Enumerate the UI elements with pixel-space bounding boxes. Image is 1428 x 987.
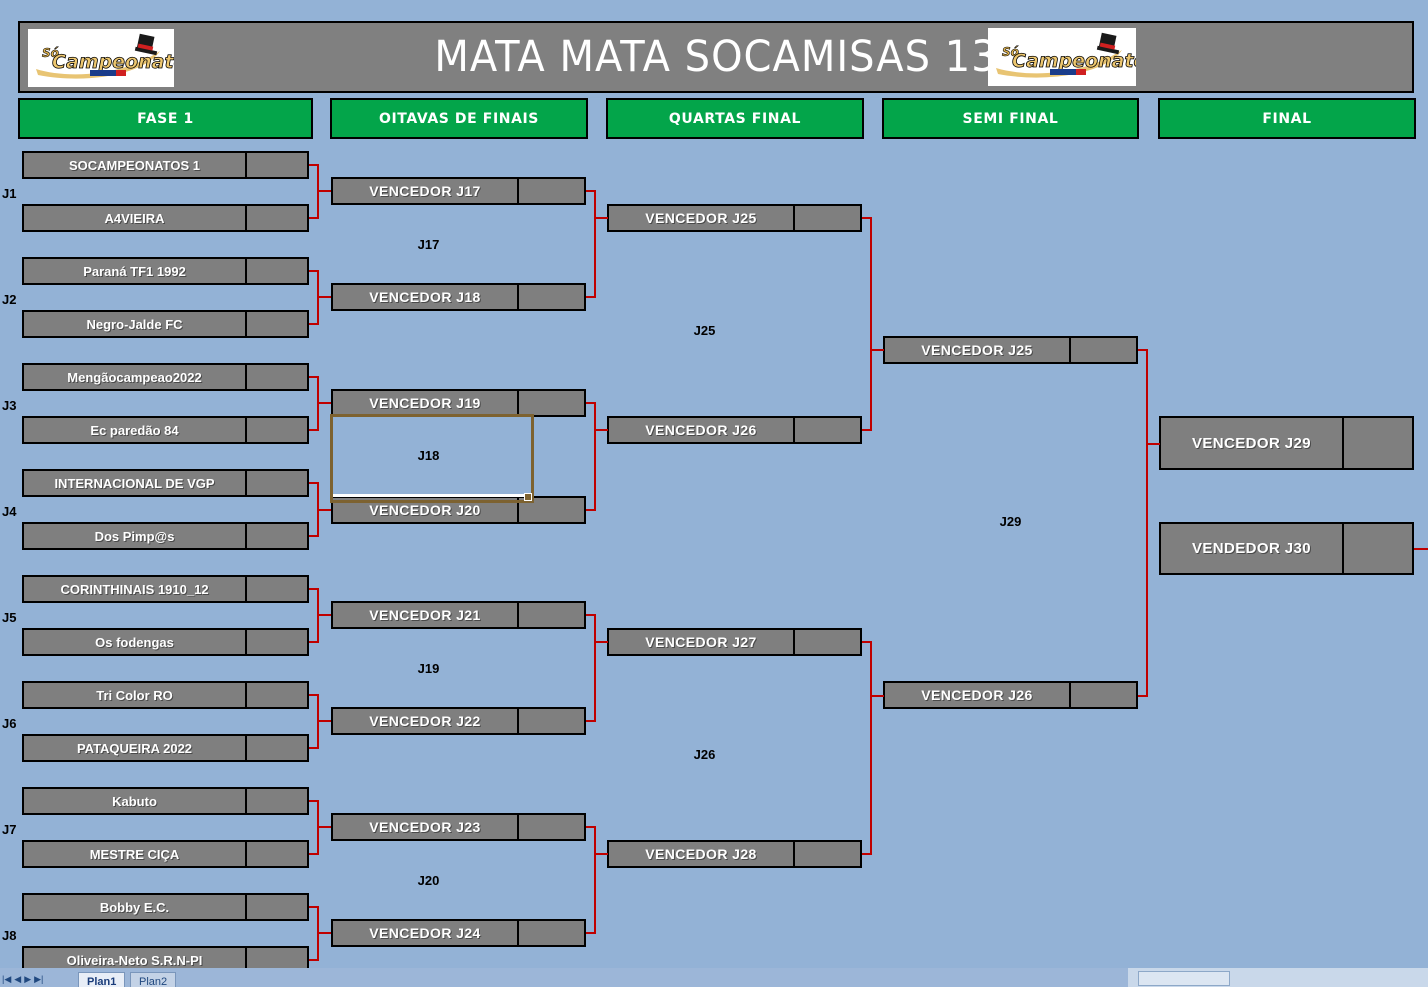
match-slot[interactable]: MESTRE CIÇA xyxy=(22,840,309,868)
horizontal-scrollbar[interactable] xyxy=(1128,968,1428,987)
score-cell[interactable] xyxy=(517,603,584,627)
match-slot[interactable]: Os fodengas xyxy=(22,628,309,656)
connector xyxy=(317,614,331,616)
match-code: J17 xyxy=(331,232,526,256)
team-name: VENCEDOR J18 xyxy=(333,285,517,309)
round-header-label: FASE 1 xyxy=(137,111,194,127)
team-name: Tri Color RO xyxy=(24,683,245,707)
team-name: VENDEDOR J30 xyxy=(1161,524,1342,573)
team-name: VENCEDOR J23 xyxy=(333,815,517,839)
sheet-nav-buttons[interactable]: |◀ ◀ ▶ ▶| xyxy=(2,972,68,987)
score-cell[interactable] xyxy=(517,391,584,415)
team-name: Bobby E.C. xyxy=(24,895,245,919)
score-cell[interactable] xyxy=(245,312,307,336)
score-cell[interactable] xyxy=(245,206,307,230)
connector xyxy=(594,826,596,934)
team-name: VENCEDOR J29 xyxy=(1161,418,1342,468)
score-cell[interactable] xyxy=(793,842,860,866)
score-cell[interactable] xyxy=(517,709,584,733)
score-cell[interactable] xyxy=(245,683,307,707)
score-cell[interactable] xyxy=(245,524,307,548)
match-code: J20 xyxy=(331,868,526,892)
score-cell[interactable] xyxy=(245,895,307,919)
connector xyxy=(594,853,608,855)
connector xyxy=(870,695,884,697)
team-name: VENCEDOR J21 xyxy=(333,603,517,627)
team-name: VENCEDOR J27 xyxy=(609,630,793,654)
team-name: Paraná TF1 1992 xyxy=(24,259,245,283)
connector xyxy=(594,190,596,298)
page-title: MATA MATA SOCAMISAS 13 xyxy=(434,33,997,82)
match-code: J5 xyxy=(2,606,22,628)
sheet-tab-plan1[interactable]: Plan1 xyxy=(78,972,125,987)
svg-text:Campeonatos: Campeonatos xyxy=(1012,50,1136,72)
match-slot[interactable]: Mengãocampeao2022 xyxy=(22,363,309,391)
match-slot[interactable]: Dos Pimp@s xyxy=(22,522,309,550)
connector xyxy=(594,429,608,431)
connector xyxy=(870,641,872,855)
team-name: Ec paredão 84 xyxy=(24,418,245,442)
score-cell[interactable] xyxy=(1342,418,1412,468)
match-slot[interactable]: VENCEDOR J26 xyxy=(883,681,1138,709)
cell-selection-border[interactable] xyxy=(330,414,534,503)
round-header-label: QUARTAS FINAL xyxy=(669,111,801,127)
match-slot[interactable]: VENCEDOR J24 xyxy=(331,919,586,947)
team-name: MESTRE CIÇA xyxy=(24,842,245,866)
score-cell[interactable] xyxy=(1069,683,1136,707)
match-slot[interactable]: VENCEDOR J22 xyxy=(331,707,586,735)
team-name: Negro-Jalde FC xyxy=(24,312,245,336)
match-slot[interactable]: INTERNACIONAL DE VGP xyxy=(22,469,309,497)
round-header-semifinal[interactable]: SEMI FINAL xyxy=(882,98,1139,139)
match-slot[interactable]: VENCEDOR J19 xyxy=(331,389,586,417)
sheet-tab-label: Plan2 xyxy=(139,976,167,987)
score-cell[interactable] xyxy=(517,921,584,945)
score-cell[interactable] xyxy=(245,471,307,495)
match-slot[interactable]: VENCEDOR J18 xyxy=(331,283,586,311)
match-slot[interactable]: VENCEDOR J17 xyxy=(331,177,586,205)
team-name: VENCEDOR J25 xyxy=(609,206,793,230)
match-slot[interactable]: Negro-Jalde FC xyxy=(22,310,309,338)
team-name: Dos Pimp@s xyxy=(24,524,245,548)
connector xyxy=(594,614,596,722)
bracket-canvas: MATA MATA SOCAMISAS 13 Só Campeonatos xyxy=(0,0,1428,987)
sheet-nav-last-icon[interactable]: ▶| xyxy=(34,974,43,985)
team-name: Kabuto xyxy=(24,789,245,813)
team-name: VENCEDOR J28 xyxy=(609,842,793,866)
match-slot[interactable]: VENCEDOR J27 xyxy=(607,628,862,656)
match-code: J3 xyxy=(2,394,22,416)
match-slot[interactable]: PATAQUEIRA 2022 xyxy=(22,734,309,762)
team-name: VENCEDOR J25 xyxy=(885,338,1069,362)
svg-text:Campeonatos: Campeonatos xyxy=(52,51,174,73)
team-name: INTERNACIONAL DE VGP xyxy=(24,471,245,495)
match-slot[interactable]: Kabuto xyxy=(22,787,309,815)
match-slot[interactable]: CORINTHINAIS 1910_12 xyxy=(22,575,309,603)
connector xyxy=(870,349,884,351)
match-slot[interactable]: Bobby E.C. xyxy=(22,893,309,921)
team-name: VENCEDOR J17 xyxy=(333,179,517,203)
score-cell[interactable] xyxy=(245,259,307,283)
connector xyxy=(317,402,331,404)
team-name: VENCEDOR J19 xyxy=(333,391,517,415)
team-name: Mengãocampeao2022 xyxy=(24,365,245,389)
score-cell[interactable] xyxy=(245,736,307,760)
score-cell[interactable] xyxy=(1342,524,1412,573)
match-slot[interactable]: VENCEDOR J29 xyxy=(1159,416,1414,470)
team-name: PATAQUEIRA 2022 xyxy=(24,736,245,760)
match-code: J29 xyxy=(883,509,1138,533)
match-code: J7 xyxy=(2,818,22,840)
match-slot[interactable]: VENCEDOR J25 xyxy=(883,336,1138,364)
connector xyxy=(317,190,331,192)
score-cell[interactable] xyxy=(245,630,307,654)
match-slot[interactable]: VENCEDOR J25 xyxy=(607,204,862,232)
sheet-nav-next-icon[interactable]: ▶ xyxy=(24,974,31,985)
score-cell[interactable] xyxy=(245,418,307,442)
match-code: J8 xyxy=(2,924,22,946)
score-cell[interactable] xyxy=(245,789,307,813)
connector xyxy=(1414,548,1428,550)
connector xyxy=(317,509,331,511)
round-header-final[interactable]: FINAL xyxy=(1158,98,1416,139)
score-cell[interactable] xyxy=(245,153,307,177)
connector xyxy=(317,932,331,934)
score-cell[interactable] xyxy=(793,630,860,654)
score-cell[interactable] xyxy=(517,179,584,203)
fill-handle[interactable] xyxy=(524,493,532,501)
team-name: SOCAMPEONATOS 1 xyxy=(24,153,245,177)
score-cell[interactable] xyxy=(1069,338,1136,362)
round-header-label: FINAL xyxy=(1262,111,1311,127)
team-name: VENCEDOR J26 xyxy=(609,418,793,442)
connector xyxy=(317,296,331,298)
match-code: J6 xyxy=(2,712,22,734)
match-code: J1 xyxy=(2,182,22,204)
sheet-tab-plan2[interactable]: Plan2 xyxy=(130,972,176,987)
match-code: J25 xyxy=(607,318,802,342)
team-name: VENCEDOR J22 xyxy=(333,709,517,733)
match-slot[interactable]: VENDEDOR J30 xyxy=(1159,522,1414,575)
round-header-label: SEMI FINAL xyxy=(963,111,1059,127)
team-name: CORINTHINAIS 1910_12 xyxy=(24,577,245,601)
match-slot[interactable]: VENCEDOR J21 xyxy=(331,601,586,629)
round-header-quartas[interactable]: QUARTAS FINAL xyxy=(606,98,864,139)
score-cell[interactable] xyxy=(245,365,307,389)
so-campeonatos-logo: Só Campeonatos xyxy=(988,28,1136,86)
title-banner: MATA MATA SOCAMISAS 13 xyxy=(18,21,1414,93)
score-cell[interactable] xyxy=(793,418,860,442)
score-cell[interactable] xyxy=(245,577,307,601)
so-campeonatos-logo: Só Campeonatos xyxy=(28,29,174,87)
match-code: J19 xyxy=(331,656,526,680)
sheet-nav-prev-icon[interactable]: ◀ xyxy=(14,974,21,985)
match-slot[interactable]: VENCEDOR J28 xyxy=(607,840,862,868)
connector xyxy=(1146,349,1148,697)
connector xyxy=(594,402,596,511)
connector xyxy=(1146,443,1160,445)
match-slot[interactable]: Paraná TF1 1992 xyxy=(22,257,309,285)
match-slot[interactable]: VENCEDOR J26 xyxy=(607,416,862,444)
round-header-fase1[interactable]: FASE 1 xyxy=(18,98,313,139)
round-header-oitavas[interactable]: OITAVAS DE FINAIS xyxy=(330,98,588,139)
match-slot[interactable]: A4VIEIRA xyxy=(22,204,309,232)
match-slot[interactable]: Tri Color RO xyxy=(22,681,309,709)
match-code: J2 xyxy=(2,288,22,310)
team-name: VENCEDOR J26 xyxy=(885,683,1069,707)
score-cell[interactable] xyxy=(793,206,860,230)
match-slot[interactable]: Ec paredão 84 xyxy=(22,416,309,444)
connector xyxy=(594,217,608,219)
sheet-tab-label: Plan1 xyxy=(87,976,116,987)
match-code: J4 xyxy=(2,500,22,522)
match-code: J26 xyxy=(607,742,802,766)
match-slot[interactable]: SOCAMPEONATOS 1 xyxy=(22,151,309,179)
match-slot[interactable]: VENCEDOR J23 xyxy=(331,813,586,841)
score-cell[interactable] xyxy=(245,842,307,866)
sheet-tab-strip: |◀ ◀ ▶ ▶| Plan1 Plan2 xyxy=(0,968,1428,987)
scrollbar-thumb[interactable] xyxy=(1138,971,1230,986)
connector xyxy=(317,826,331,828)
round-header-label: OITAVAS DE FINAIS xyxy=(379,111,539,127)
score-cell[interactable] xyxy=(517,285,584,309)
team-name: A4VIEIRA xyxy=(24,206,245,230)
score-cell[interactable] xyxy=(517,815,584,839)
team-name: VENCEDOR J24 xyxy=(333,921,517,945)
team-name: Os fodengas xyxy=(24,630,245,654)
connector xyxy=(870,217,872,431)
connector xyxy=(317,720,331,722)
connector xyxy=(594,641,608,643)
sheet-nav-first-icon[interactable]: |◀ xyxy=(2,974,11,985)
